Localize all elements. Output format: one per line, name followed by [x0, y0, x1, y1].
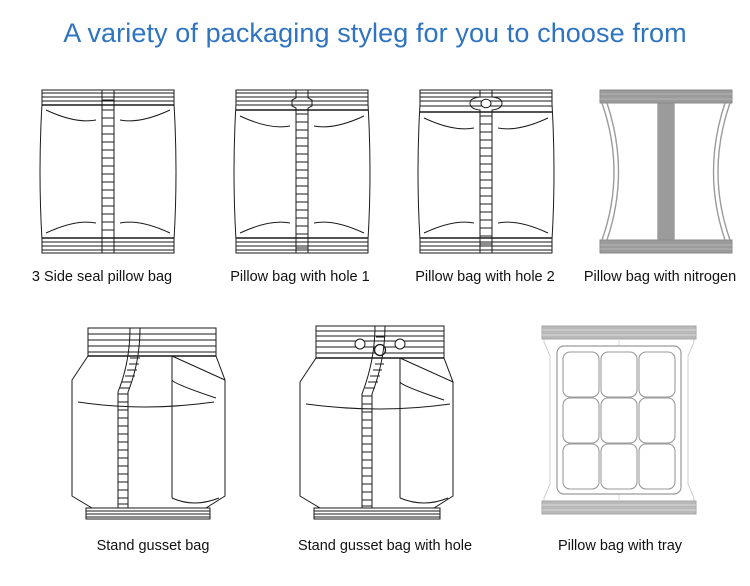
- caption-pillow-bag-with-hole-1: Pillow bag with hole 1: [205, 269, 395, 285]
- caption-pillow-bag-with-nitrogen: Pillow bag with nitrogen: [570, 269, 750, 285]
- bag-illustration-stand-gusset-bag-with-hole: [288, 318, 472, 523]
- bag-illustration-pillow-bag-with-hole-1: [222, 84, 382, 259]
- bag-illustration-three-side-seal-pillow-bag: [28, 84, 188, 259]
- pillow-bag-hole-1-icon: [222, 84, 382, 259]
- caption-stand-gusset-bag: Stand gusset bag: [48, 538, 258, 554]
- caption-pillow-bag-with-tray: Pillow bag with tray: [520, 538, 720, 554]
- bag-illustration-pillow-bag-with-tray: [528, 316, 710, 524]
- stand-gusset-bag-hole-icon: [288, 318, 472, 523]
- caption-pillow-bag-with-hole-2: Pillow bag with hole 2: [390, 269, 580, 285]
- bag-illustration-stand-gusset-bag: [64, 322, 244, 522]
- pillow-bag-tray-icon: [528, 316, 710, 524]
- pillow-bag-icon: [28, 84, 188, 259]
- pillow-bag-hole-2-icon: [406, 84, 566, 259]
- stand-gusset-bag-icon: [64, 322, 244, 522]
- bag-illustration-pillow-bag-with-nitrogen: [592, 84, 740, 259]
- caption-three-side-seal-pillow-bag: 3 Side seal pillow bag: [2, 269, 202, 285]
- page-title: A variety of packaging styleg for you to…: [0, 18, 750, 49]
- packaging-styles-page: A variety of packaging styleg for you to…: [0, 0, 750, 586]
- bag-illustration-pillow-bag-with-hole-2: [406, 84, 566, 259]
- caption-stand-gusset-bag-with-hole: Stand gusset bag with hole: [270, 538, 500, 554]
- pillow-bag-nitrogen-icon: [592, 84, 740, 259]
